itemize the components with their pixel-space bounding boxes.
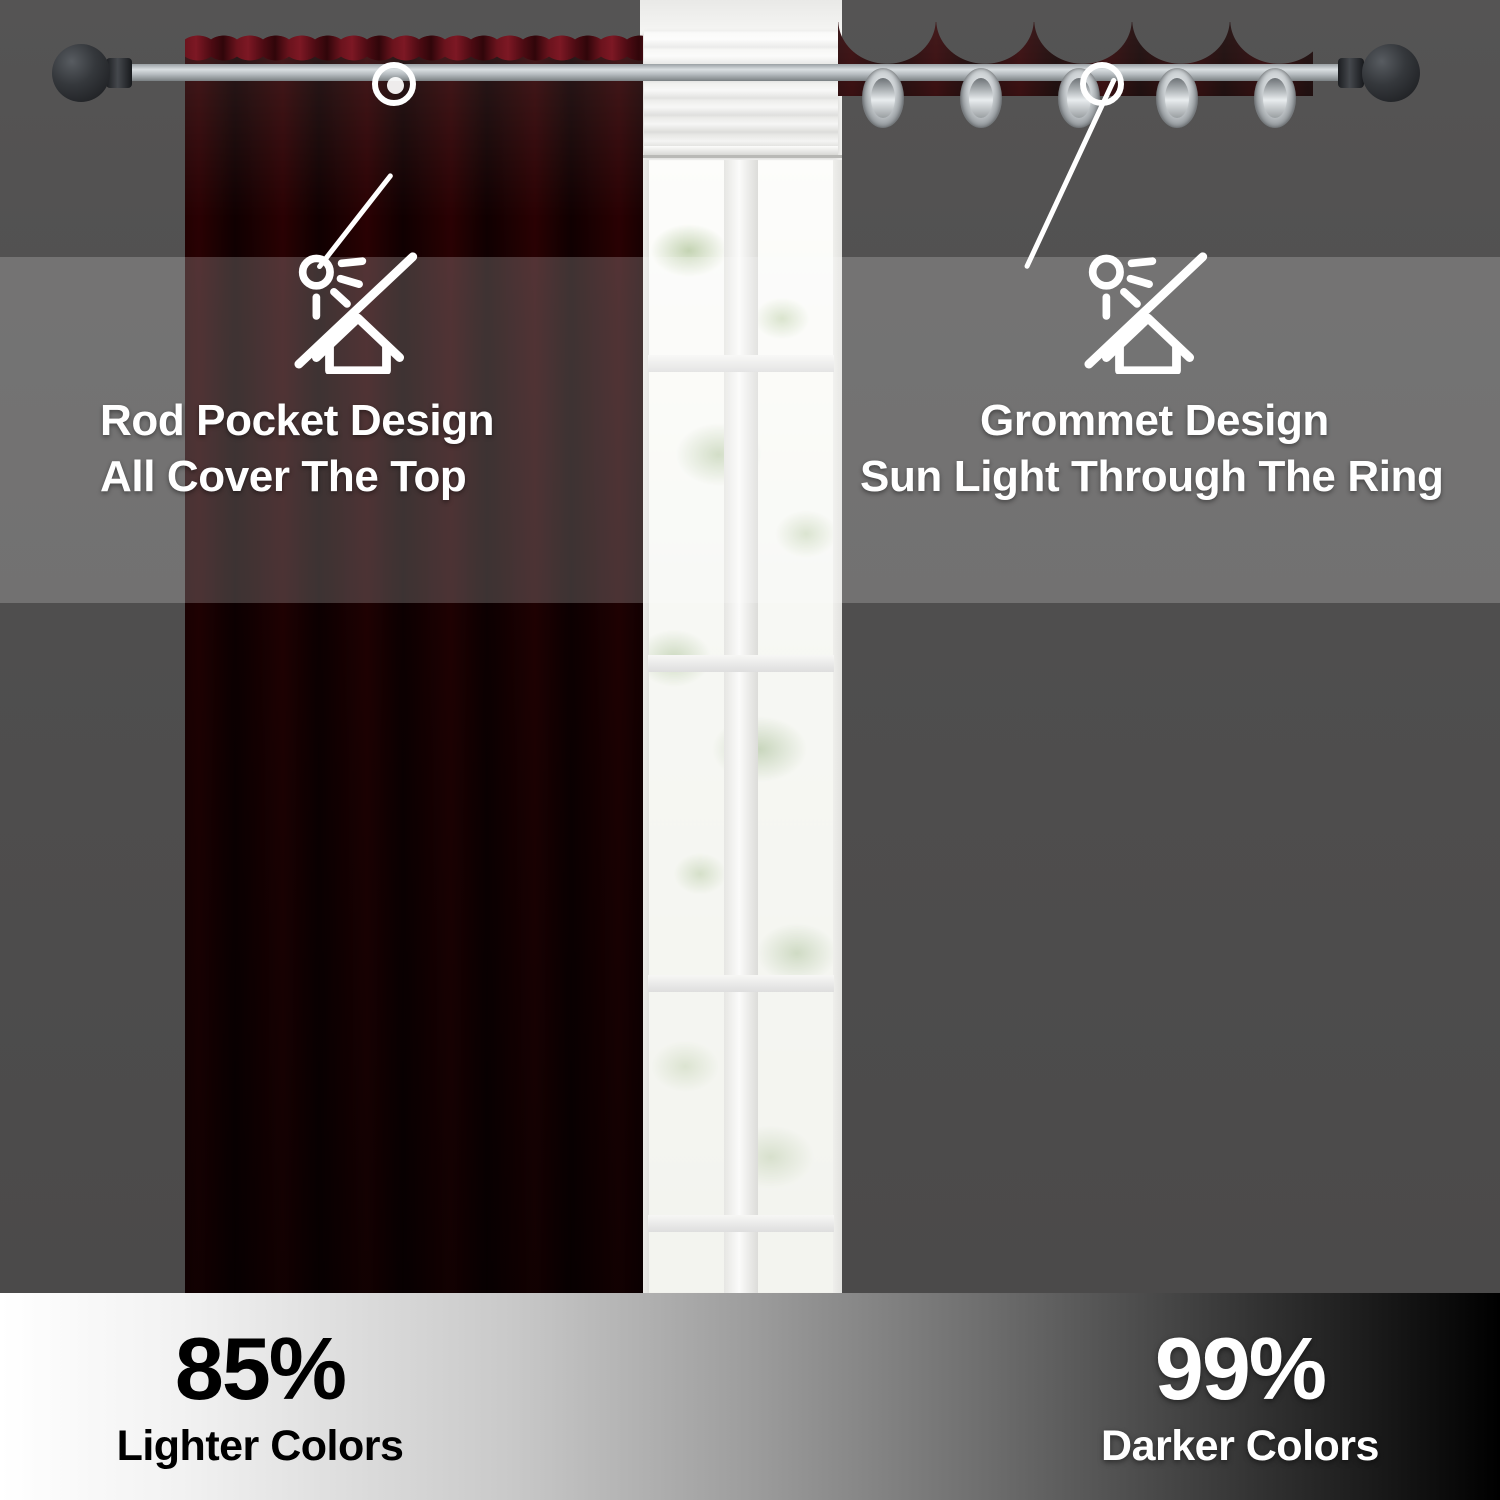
callout-ring-right [1080,62,1124,106]
rod-finial-left [52,44,110,102]
no-sunlight-through-house-icon [292,248,424,374]
finial-neck-right [1338,58,1364,88]
curtain-panel-rod-pocket [185,0,643,1293]
roman-shade [644,30,838,155]
window-frame-top [640,0,842,34]
room-scene: Rod Pocket Design All Cover The Top Grom… [0,0,1500,1293]
feature-block-rod-pocket: Rod Pocket Design All Cover The Top [100,248,620,506]
grommet-ring [1156,68,1198,128]
stat-label: Darker Colors [1040,1425,1440,1468]
grommet-ring [862,68,904,128]
curtain-panel-grommet [838,0,1313,1293]
feature-title-line1: Rod Pocket Design [100,393,620,449]
curtain-shading [185,44,643,1293]
feature-title-line2: Sun Light Through The Ring [860,449,1500,505]
window-muntin [648,655,834,672]
window-header-trim [640,155,842,158]
no-sunlight-through-house-icon [1082,248,1214,374]
feature-title-line2: All Cover The Top [100,449,620,505]
stat-value: 99% [1040,1325,1440,1413]
window-muntin [648,1215,834,1232]
callout-dot-left [387,77,404,94]
roman-shade-hem [644,146,838,155]
stat-darker-colors: 99% Darker Colors [750,1293,1500,1500]
feature-block-grommet: Grommet Design Sun Light Through The Rin… [960,248,1500,506]
window-muntin [648,975,834,992]
rod-finial-right [1362,44,1420,102]
grommet-ring [960,68,1002,128]
window [640,0,842,1293]
grommet-ring [1254,68,1296,128]
feature-title-line1: Grommet Design [980,393,1500,449]
blackout-stats-banner: 85% Lighter Colors 99% Darker Colors [0,1293,1500,1500]
rod-pocket-ruffle [185,30,643,64]
stat-label: Lighter Colors [60,1425,460,1468]
stat-value: 85% [60,1325,460,1413]
stat-lighter-colors: 85% Lighter Colors [0,1293,750,1500]
curtain-rod [86,64,1416,81]
curtain-shading [838,22,1313,1293]
product-feature-image: Rod Pocket Design All Cover The Top Grom… [0,0,1500,1500]
